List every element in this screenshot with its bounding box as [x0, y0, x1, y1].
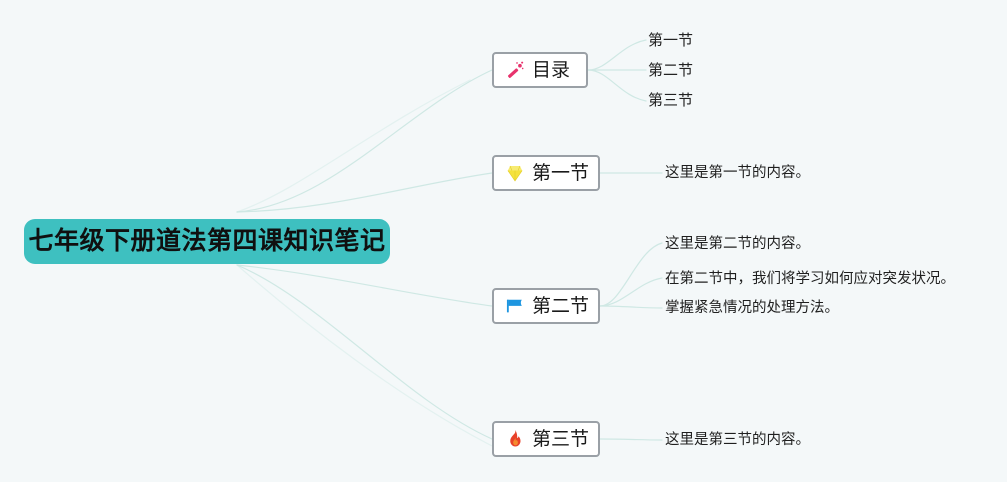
magic-wand-icon	[504, 59, 526, 81]
branch-node-section-3[interactable]: 第三节	[492, 421, 600, 457]
flag-icon	[504, 295, 526, 317]
section-2-content-item[interactable]: 这里是第二节的内容。	[665, 237, 810, 252]
catalog-child-item[interactable]: 第二节	[648, 63, 693, 78]
section-1-content-item[interactable]: 这里是第一节的内容。	[665, 166, 810, 181]
edge-sec2-to-content-0	[600, 243, 662, 306]
edge-catalog-to-child-2	[588, 70, 646, 101]
branch-node-section-1[interactable]: 第一节	[492, 155, 600, 191]
edge-root-to-sec3	[237, 265, 492, 439]
edge-hub-strand-upper	[237, 80, 470, 212]
branch-node-section-3-label: 第三节	[532, 430, 589, 449]
root-node[interactable]: 七年级下册道法第四课知识笔记	[24, 219, 390, 264]
section-2-content-item[interactable]: 掌握紧急情况的处理方法。	[665, 301, 839, 316]
root-node-label: 七年级下册道法第四课知识笔记	[28, 229, 385, 254]
branch-node-catalog[interactable]: 目录	[492, 52, 588, 88]
edge-root-to-sec2	[237, 265, 492, 306]
edge-root-to-catalog	[237, 70, 492, 212]
mindmap-canvas: 七年级下册道法第四课知识笔记 目录 第一节 第二节 第三节	[0, 0, 1007, 482]
edge-sec2-to-content-2	[600, 306, 662, 308]
gem-icon	[504, 162, 526, 184]
branch-node-section-2[interactable]: 第二节	[492, 288, 600, 324]
section-2-content-item[interactable]: 在第二节中，我们将学习如何应对突发状况。	[665, 272, 955, 287]
edge-hub-strand-lower	[237, 265, 500, 450]
section-3-content-item[interactable]: 这里是第三节的内容。	[665, 433, 810, 448]
branch-node-catalog-label: 目录	[532, 61, 570, 80]
fire-icon	[504, 428, 526, 450]
branch-node-section-1-label: 第一节	[532, 164, 589, 183]
catalog-child-item[interactable]: 第一节	[648, 33, 693, 48]
edge-sec3-to-content-0	[600, 439, 662, 440]
edge-catalog-to-child-0	[588, 40, 646, 70]
branch-node-section-2-label: 第二节	[532, 297, 589, 316]
catalog-child-item[interactable]: 第三节	[648, 93, 693, 108]
edge-sec2-to-content-1	[600, 278, 662, 306]
edge-root-to-sec1	[237, 173, 492, 212]
